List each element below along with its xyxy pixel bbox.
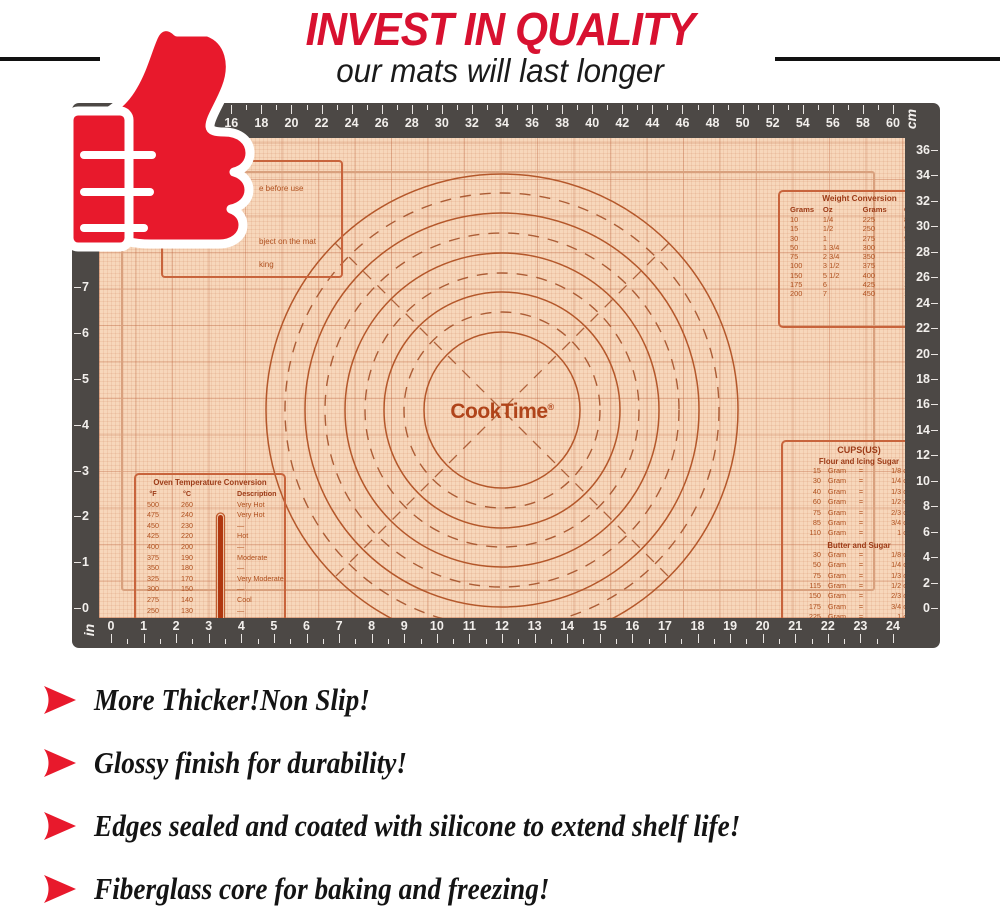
- ruler-label: 2: [173, 619, 180, 633]
- ruler-label: 7: [336, 619, 343, 633]
- weight-cell: 250: [863, 224, 904, 233]
- oven-celsius: 190: [170, 553, 204, 564]
- ruler-label: 44: [645, 116, 659, 130]
- oven-description: Moderate: [237, 553, 284, 564]
- ruler-tick: [931, 175, 938, 176]
- ruler-label: 24: [345, 116, 359, 130]
- ruler-tick: [339, 634, 340, 643]
- table-row: 20074501lb: [780, 289, 905, 298]
- cups-cell: 1/8 cup: [869, 550, 905, 560]
- ruler-unit-label: in: [81, 624, 97, 636]
- ruler-tick: [176, 634, 177, 643]
- weight-cell: 350: [863, 252, 904, 261]
- ruler-tick: [682, 105, 683, 114]
- feature-text: Glossy finish for durability!: [94, 745, 407, 781]
- ruler-tick: [931, 506, 938, 507]
- ruler-label: 34: [916, 168, 930, 182]
- bullet-arrow-icon: [36, 683, 94, 717]
- ruler-tick: [209, 634, 210, 643]
- oven-conversion-title: Oven Temperature Conversion: [136, 478, 284, 487]
- ruler-tick-minor: [877, 639, 878, 644]
- oven-description: —: [237, 584, 284, 595]
- oven-description: Very Cool: [237, 616, 284, 618]
- ruler-tick-minor: [337, 105, 338, 110]
- ruler-label: 20: [756, 619, 770, 633]
- cups-conversion-title: CUPS(US): [783, 445, 905, 455]
- cups-cell: 85: [801, 518, 821, 528]
- weight-cell: 100: [780, 261, 823, 270]
- ruler-tick-minor: [453, 639, 454, 644]
- weight-conversion-title: Weight Conversion: [780, 194, 905, 203]
- ruler-tick-minor: [616, 639, 617, 644]
- ruler-label: 17: [658, 619, 672, 633]
- ruler-tick: [931, 455, 938, 456]
- weight-col-header: Grams: [863, 205, 904, 215]
- weight-cell: 7: [823, 289, 863, 298]
- oven-fahrenheit: 250: [136, 606, 170, 617]
- ruler-tick-minor: [698, 105, 699, 110]
- oven-fahrenheit: 350: [136, 563, 170, 574]
- brand-name: CookTime: [450, 400, 547, 423]
- ruler-tick: [322, 105, 323, 114]
- ruler-label: 14: [560, 619, 574, 633]
- cups-cell: 115: [801, 581, 821, 591]
- ruler-label: 38: [555, 116, 569, 130]
- oven-fahrenheit: 275: [136, 595, 170, 606]
- cups-section-title: Flour and Icing Sugar: [783, 457, 905, 466]
- weight-cell: 300: [863, 243, 904, 252]
- ruler-tick: [382, 105, 383, 114]
- cups-cell: Gram: [821, 581, 853, 591]
- ruler-label: 10: [430, 619, 444, 633]
- cups-cell: =: [853, 550, 869, 560]
- ruler-label: 16: [625, 619, 639, 633]
- thermometer-icon: [212, 511, 229, 618]
- cups-cell: =: [853, 466, 869, 476]
- table-row: 15Gram=1/8 cup: [783, 466, 905, 476]
- weight-cell: 450: [863, 289, 904, 298]
- weight-col-header: Grams: [780, 205, 823, 215]
- ruler-label: 0: [82, 601, 89, 615]
- cups-cell: 110: [801, 528, 821, 538]
- weight-cell: 225: [863, 215, 904, 224]
- ruler-label: 28: [916, 245, 930, 259]
- ruler-label: 6: [303, 619, 310, 633]
- ruler-tick: [931, 226, 938, 227]
- oven-header-row: °F°CDescription: [136, 489, 284, 500]
- ruler-tick: [274, 634, 275, 643]
- ruler-tick: [372, 634, 373, 643]
- ruler-tick: [74, 379, 81, 380]
- cups-cell: =: [853, 581, 869, 591]
- table-row: 40Gram=1/3 cup: [783, 487, 905, 497]
- ruler-tick: [803, 105, 804, 114]
- ruler-tick-minor: [323, 639, 324, 644]
- list-item: Glossy finish for durability!: [36, 731, 986, 794]
- oven-description: —: [237, 606, 284, 617]
- ruler-tick: [860, 634, 861, 643]
- ruler-tick: [472, 105, 473, 114]
- ruler-tick: [352, 105, 353, 114]
- ruler-tick-minor: [307, 105, 308, 110]
- ruler-label: 58: [856, 116, 870, 130]
- table-row: 425220Hot: [136, 531, 284, 542]
- cups-cell: 1 cup: [869, 612, 905, 618]
- table-row: 101/42258: [780, 215, 905, 224]
- ruler-label: 26: [375, 116, 389, 130]
- ruler-tick-minor: [551, 639, 552, 644]
- ruler-tick: [863, 105, 864, 114]
- ruler-tick: [773, 105, 774, 114]
- ruler-tick-minor: [276, 105, 277, 110]
- table-row: 225110Very Cool: [136, 616, 284, 618]
- cups-cell: 150: [801, 591, 821, 601]
- weight-cell: 1 3/4: [823, 243, 863, 252]
- weight-conversion-table: GramsOzGramsOz 101/42258151/225093012759…: [780, 205, 905, 299]
- weight-cell: 175: [780, 280, 823, 289]
- ruler-tick-minor: [486, 639, 487, 644]
- cups-cell: 175: [801, 602, 821, 612]
- weight-cell: 15: [780, 224, 823, 233]
- oven-spacer: [204, 500, 237, 511]
- ruler-tick-minor: [421, 639, 422, 644]
- weight-cell: 12: [904, 252, 905, 261]
- oven-description: Cool: [237, 595, 284, 606]
- table-row: 1505 1/240014: [780, 271, 905, 280]
- ruler-label: 1: [82, 555, 89, 569]
- cups-cell: =: [853, 518, 869, 528]
- ruler-label: 12: [495, 619, 509, 633]
- cups-cell: 60: [801, 497, 821, 507]
- ruler-tick-minor: [728, 105, 729, 110]
- table-row: 225Gram=1 cup: [783, 612, 905, 618]
- ruler-label: 24: [886, 619, 900, 633]
- ruler-label: 16: [916, 397, 930, 411]
- ruler-tick-minor: [225, 639, 226, 644]
- oven-spacer: [204, 489, 237, 500]
- oven-celsius: 240: [170, 510, 204, 521]
- ruler-label: 11: [463, 619, 476, 633]
- ruler-tick: [931, 481, 938, 482]
- ruler-tick: [931, 328, 938, 329]
- ruler-tick-minor: [487, 105, 488, 110]
- ruler-label: 54: [796, 116, 810, 130]
- ruler-label: 5: [82, 372, 89, 386]
- cups-cell: Gram: [821, 508, 853, 518]
- table-row: 350180—: [136, 563, 284, 574]
- cups-cell: =: [853, 508, 869, 518]
- ruler-tick: [74, 608, 81, 609]
- cups-cell: =: [853, 571, 869, 581]
- ruler-label: 12: [916, 448, 930, 462]
- ruler-tick-minor: [577, 105, 578, 110]
- ruler-tick-minor: [517, 105, 518, 110]
- oven-fahrenheit: 475: [136, 510, 170, 521]
- ruler-label: 4: [238, 619, 245, 633]
- table-row: 1003 1/237513: [780, 261, 905, 270]
- weight-cell: 1lb: [904, 289, 905, 298]
- cups-cell: =: [853, 591, 869, 601]
- table-row: 752 3/435012: [780, 252, 905, 261]
- oven-description: Hot: [237, 531, 284, 542]
- bullet-arrow-icon: [36, 746, 94, 780]
- cups-cell: 1/4 cup: [869, 560, 905, 570]
- features-list: More Thicker!Non Slip!Glossy finish for …: [36, 668, 986, 920]
- oven-fahrenheit: 450: [136, 521, 170, 532]
- ruler-tick-minor: [812, 639, 813, 644]
- ruler-tick: [74, 562, 81, 563]
- cups-cell: 1/3 cup: [869, 571, 905, 581]
- ruler-label: 19: [723, 619, 737, 633]
- oven-fahrenheit: °F: [136, 489, 170, 500]
- ruler-label: 32: [916, 194, 930, 208]
- table-row: 450230—: [136, 521, 284, 532]
- ruler-tick-minor: [192, 639, 193, 644]
- table-row: 175Gram=3/4 cup: [783, 602, 905, 612]
- ruler-label: 2: [82, 509, 89, 523]
- ruler-tick-minor: [681, 639, 682, 644]
- ruler-tick-minor: [779, 639, 780, 644]
- table-row: 110Gram=1 cup: [783, 528, 905, 538]
- ruler-tick: [502, 105, 503, 114]
- ruler-label: 15: [593, 619, 607, 633]
- table-row: 50Gram=1/4 cup: [783, 560, 905, 570]
- ruler-tick: [74, 471, 81, 472]
- ruler-tick: [437, 634, 438, 643]
- weight-cell: 3 1/2: [823, 261, 863, 270]
- oven-conversion-panel: Oven Temperature Conversion °F°CDescript…: [134, 473, 286, 618]
- cups-cell: 50: [801, 560, 821, 570]
- ruler-tick-minor: [355, 639, 356, 644]
- cups-cell: Gram: [821, 571, 853, 581]
- ruler-label: 46: [676, 116, 690, 130]
- ruler-tick: [412, 105, 413, 114]
- ruler-label: 13: [528, 619, 542, 633]
- ruler-tick: [562, 105, 563, 114]
- ruler-tick-minor: [758, 105, 759, 110]
- cups-cell: 2/3 cup: [869, 508, 905, 518]
- cups-cell: 30: [801, 550, 821, 560]
- ruler-label: 22: [916, 321, 930, 335]
- table-row: 75Gram=2/3 cup: [783, 508, 905, 518]
- ruler-tick-minor: [518, 639, 519, 644]
- oven-fahrenheit: 300: [136, 584, 170, 595]
- cups-cell: 40: [801, 487, 821, 497]
- weight-cell: 75: [780, 252, 823, 261]
- ruler-tick: [931, 379, 938, 380]
- cups-section-title: Butter and Sugar: [783, 541, 905, 550]
- ruler-label: 48: [706, 116, 720, 130]
- weight-cell: 8: [904, 215, 905, 224]
- ruler-label: 6: [923, 525, 930, 539]
- ruler-label: 26: [916, 270, 930, 284]
- table-row: 150Gram=2/3 cup: [783, 591, 905, 601]
- cups-cell: 1/8 cup: [869, 466, 905, 476]
- oven-celsius: 220: [170, 531, 204, 542]
- table-row: 500260Very Hot: [136, 500, 284, 511]
- cups-conversion-table: Flour and Icing Sugar15Gram=1/8 cup30Gra…: [783, 457, 905, 618]
- thumbs-up-icon: [58, 12, 263, 274]
- oven-fahrenheit: 375: [136, 553, 170, 564]
- cups-cell: =: [853, 602, 869, 612]
- ruler-tick: [74, 425, 81, 426]
- ruler-label: 1: [140, 619, 147, 633]
- ruler-label: 52: [766, 116, 780, 130]
- table-row: 115Gram=1/2 cup: [783, 581, 905, 591]
- ruler-label: 40: [585, 116, 599, 130]
- ruler-tick-minor: [714, 639, 715, 644]
- weight-table-body: 101/42258151/225093012759 3/4501 3/43001…: [780, 215, 905, 299]
- ruler-tick: [713, 105, 714, 114]
- weight-col-header: Oz: [823, 205, 863, 215]
- ruler-tick-minor: [258, 639, 259, 644]
- ruler-unit-label: cm: [903, 109, 919, 129]
- ruler-label: 5: [270, 619, 277, 633]
- weight-cell: 14: [904, 271, 905, 280]
- weight-cell: 9 3/4: [904, 234, 905, 243]
- ruler-label: 24: [916, 296, 930, 310]
- oven-fahrenheit: 325: [136, 574, 170, 585]
- cups-cell: 15: [801, 466, 821, 476]
- ruler-tick: [592, 105, 593, 114]
- feature-text: More Thicker!Non Slip!: [94, 682, 370, 718]
- list-item: Fiberglass core for baking and freezing!: [36, 857, 986, 920]
- ruler-label: 36: [916, 143, 930, 157]
- table-row: 151/22509: [780, 224, 905, 233]
- cups-cell: 1/4 cup: [869, 476, 905, 486]
- weight-cell: 10: [780, 215, 823, 224]
- ruler-tick-minor: [583, 639, 584, 644]
- ruler-tick: [931, 430, 938, 431]
- ruler-tick: [828, 634, 829, 643]
- ruler-label: 42: [615, 116, 629, 130]
- ruler-tick: [795, 634, 796, 643]
- weight-cell: 1: [823, 234, 863, 243]
- weight-col-header: Oz: [904, 205, 905, 215]
- ruler-tick-minor: [388, 639, 389, 644]
- ruler-bottom-inch: 0123456789101112131415161718192021222324…: [99, 618, 905, 648]
- cups-cell: Gram: [821, 487, 853, 497]
- ruler-label: 28: [405, 116, 419, 130]
- weight-cell: 9: [904, 224, 905, 233]
- table-row: 75Gram=1/3 cup: [783, 571, 905, 581]
- ruler-tick-minor: [878, 105, 879, 110]
- feature-text: Fiberglass core for baking and freezing!: [94, 871, 549, 907]
- table-row: 501 3/430010 1/2: [780, 243, 905, 252]
- ruler-label: 34: [495, 116, 509, 130]
- ruler-tick: [622, 105, 623, 114]
- oven-description: Very Hot: [237, 510, 284, 521]
- cups-cell: 3/4 cup: [869, 518, 905, 528]
- bullet-arrow-icon: [36, 872, 94, 906]
- cups-cell: Gram: [821, 497, 853, 507]
- cups-cell: 225: [801, 612, 821, 618]
- ruler-tick-minor: [290, 639, 291, 644]
- weight-cell: 375: [863, 261, 904, 270]
- cups-cell: 3/4 cup: [869, 602, 905, 612]
- ruler-tick-minor: [788, 105, 789, 110]
- ruler-label: 30: [435, 116, 449, 130]
- cups-cell: 1/2 cup: [869, 581, 905, 591]
- ruler-tick: [291, 105, 292, 114]
- table-row: 275140Cool: [136, 595, 284, 606]
- weight-cell: 200: [780, 289, 823, 298]
- ruler-label: 3: [205, 619, 212, 633]
- weight-cell: 50: [780, 243, 823, 252]
- oven-description: —: [237, 542, 284, 553]
- weight-cell: 400: [863, 271, 904, 280]
- table-row: 30Gram=1/4 cup: [783, 476, 905, 486]
- ruler-tick-minor: [746, 639, 747, 644]
- cups-cell: 1/3 cup: [869, 487, 905, 497]
- oven-description: —: [237, 521, 284, 532]
- table-row: 30Gram=1/8 cup: [783, 550, 905, 560]
- ruler-tick: [632, 634, 633, 643]
- oven-celsius: 180: [170, 563, 204, 574]
- ruler-tick: [502, 634, 503, 643]
- cups-cell: Gram: [821, 602, 853, 612]
- ruler-label: 6: [82, 326, 89, 340]
- ruler-label: 8: [368, 619, 375, 633]
- oven-celsius: 130: [170, 606, 204, 617]
- weight-cell: 2 3/4: [823, 252, 863, 261]
- cups-cell: =: [853, 497, 869, 507]
- ruler-tick: [893, 634, 894, 643]
- oven-celsius: 150: [170, 584, 204, 595]
- list-item: More Thicker!Non Slip!: [36, 668, 986, 731]
- cups-cell: Gram: [821, 518, 853, 528]
- ruler-tick: [241, 634, 242, 643]
- weight-cell: 275: [863, 234, 904, 243]
- ruler-label: 14: [916, 423, 930, 437]
- ruler-tick: [931, 201, 938, 202]
- cups-cell: =: [853, 612, 869, 618]
- ruler-tick-minor: [367, 105, 368, 110]
- ruler-tick: [532, 105, 533, 114]
- feature-text: Edges sealed and coated with silicone to…: [94, 808, 740, 844]
- ruler-tick-minor: [160, 639, 161, 644]
- table-row: 85Gram=3/4 cup: [783, 518, 905, 528]
- ruler-label: 3: [82, 464, 89, 478]
- ruler-tick: [567, 634, 568, 643]
- ruler-tick: [404, 634, 405, 643]
- cups-cell: Gram: [821, 591, 853, 601]
- ruler-label: 36: [525, 116, 539, 130]
- ruler-tick: [74, 287, 81, 288]
- cups-cell: =: [853, 476, 869, 486]
- registered-mark: ®: [548, 402, 554, 412]
- ruler-label: 56: [826, 116, 840, 130]
- ruler-tick: [931, 150, 938, 151]
- weight-cell: 425: [863, 280, 904, 289]
- ruler-label: 20: [916, 347, 930, 361]
- ruler-tick: [442, 105, 443, 114]
- oven-description: —: [237, 563, 284, 574]
- ruler-tick-minor: [848, 105, 849, 110]
- bullet-arrow-icon: [36, 809, 94, 843]
- cups-cell: Gram: [821, 550, 853, 560]
- ruler-tick-minor: [607, 105, 608, 110]
- oven-celsius: 260: [170, 500, 204, 511]
- ruler-tick: [652, 105, 653, 114]
- cups-cell: Gram: [821, 528, 853, 538]
- ruler-tick: [931, 303, 938, 304]
- oven-conversion-table: °F°CDescription500260Very Hot475240Very …: [136, 489, 284, 618]
- weight-table-header: GramsOzGramsOz: [780, 205, 905, 215]
- table-row: 475240Very Hot: [136, 510, 284, 521]
- ruler-tick-minor: [667, 105, 668, 110]
- weight-cell: 15: [904, 280, 905, 289]
